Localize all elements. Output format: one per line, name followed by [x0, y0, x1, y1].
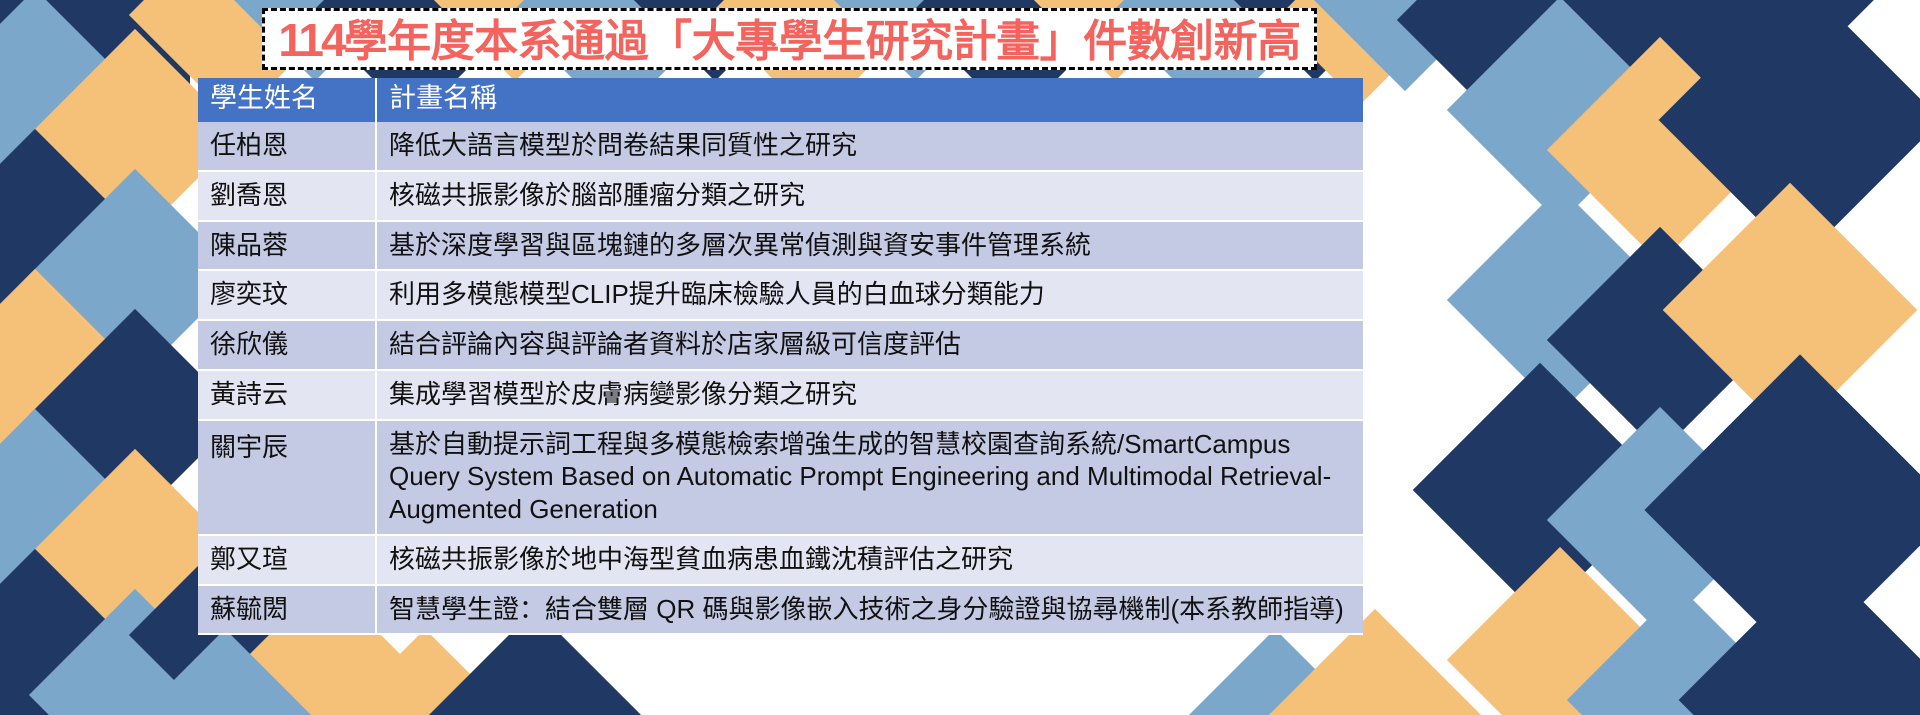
- column-header-student-name: 學生姓名: [198, 78, 376, 122]
- table-row: 陳品蓉 基於深度學習與區塊鏈的多層次異常偵測與資安事件管理系統: [198, 221, 1363, 271]
- cell-student-name: 陳品蓉: [198, 221, 376, 271]
- cell-student-name: 黃詩云: [198, 370, 376, 420]
- cell-student-name: 任柏恩: [198, 122, 376, 171]
- table-row: 黃詩云 集成學習模型於皮膚病變影像分類之研究: [198, 370, 1363, 420]
- cell-student-name: 廖奕玟: [198, 270, 376, 320]
- slide-canvas: 114學年度本系通過「大專學生研究計畫」件數創新高 學生姓名 計畫名稱 任柏恩 …: [0, 0, 1920, 715]
- column-header-project-title: 計畫名稱: [376, 78, 1363, 122]
- projects-table-container: 學生姓名 計畫名稱 任柏恩 降低大語言模型於問卷結果同質性之研究 劉喬恩 核磁共…: [198, 78, 1363, 635]
- title-year-number: 114: [278, 14, 343, 66]
- cell-project-title: 利用多模態模型CLIP提升臨床檢驗人員的白血球分類能力: [376, 270, 1363, 320]
- table-row: 任柏恩 降低大語言模型於問卷結果同質性之研究: [198, 122, 1363, 171]
- table-header-row: 學生姓名 計畫名稱: [198, 78, 1363, 122]
- page-title: 114學年度本系通過「大專學生研究計畫」件數創新高: [278, 17, 1300, 64]
- table-row: 劉喬恩 核磁共振影像於腦部腫瘤分類之研究: [198, 171, 1363, 221]
- cell-project-title: 基於深度學習與區塊鏈的多層次異常偵測與資安事件管理系統: [376, 221, 1363, 271]
- cell-project-title: 核磁共振影像於腦部腫瘤分類之研究: [376, 171, 1363, 221]
- cell-student-name: 關宇辰: [198, 420, 376, 535]
- cell-student-name: 蘇毓閎: [198, 585, 376, 635]
- cell-project-title: 智慧學生證：結合雙層 QR 碼與影像嵌入技術之身分驗證與協尋機制(本系教師指導): [376, 585, 1363, 635]
- slide-title-banner: 114學年度本系通過「大專學生研究計畫」件數創新高: [262, 8, 1317, 70]
- cell-project-title: 結合評論內容與評論者資料於店家層級可信度評估: [376, 320, 1363, 370]
- table-row: 蘇毓閎 智慧學生證：結合雙層 QR 碼與影像嵌入技術之身分驗證與協尋機制(本系教…: [198, 585, 1363, 635]
- table-row: 鄭又瑄 核磁共振影像於地中海型貧血病患血鐵沈積評估之研究: [198, 535, 1363, 585]
- cell-project-title: 集成學習模型於皮膚病變影像分類之研究: [376, 370, 1363, 420]
- cell-student-name: 徐欣儀: [198, 320, 376, 370]
- cell-project-title: 核磁共振影像於地中海型貧血病患血鐵沈積評估之研究: [376, 535, 1363, 585]
- table-row: 關宇辰 基於自動提示詞工程與多模態檢索增強生成的智慧校園查詢系統/SmartCa…: [198, 420, 1363, 535]
- cell-student-name: 鄭又瑄: [198, 535, 376, 585]
- cell-student-name: 劉喬恩: [198, 171, 376, 221]
- projects-table: 學生姓名 計畫名稱 任柏恩 降低大語言模型於問卷結果同質性之研究 劉喬恩 核磁共…: [198, 78, 1363, 635]
- table-row: 徐欣儀 結合評論內容與評論者資料於店家層級可信度評估: [198, 320, 1363, 370]
- title-rest: 學年度本系通過「大專學生研究計畫」件數創新高: [344, 17, 1301, 66]
- table-body: 任柏恩 降低大語言模型於問卷結果同質性之研究 劉喬恩 核磁共振影像於腦部腫瘤分類…: [198, 122, 1363, 634]
- table-row: 廖奕玟 利用多模態模型CLIP提升臨床檢驗人員的白血球分類能力: [198, 270, 1363, 320]
- cell-project-title: 基於自動提示詞工程與多模態檢索增強生成的智慧校園查詢系統/SmartCampus…: [376, 420, 1363, 535]
- cell-project-title: 降低大語言模型於問卷結果同質性之研究: [376, 122, 1363, 171]
- table-header: 學生姓名 計畫名稱: [198, 78, 1363, 122]
